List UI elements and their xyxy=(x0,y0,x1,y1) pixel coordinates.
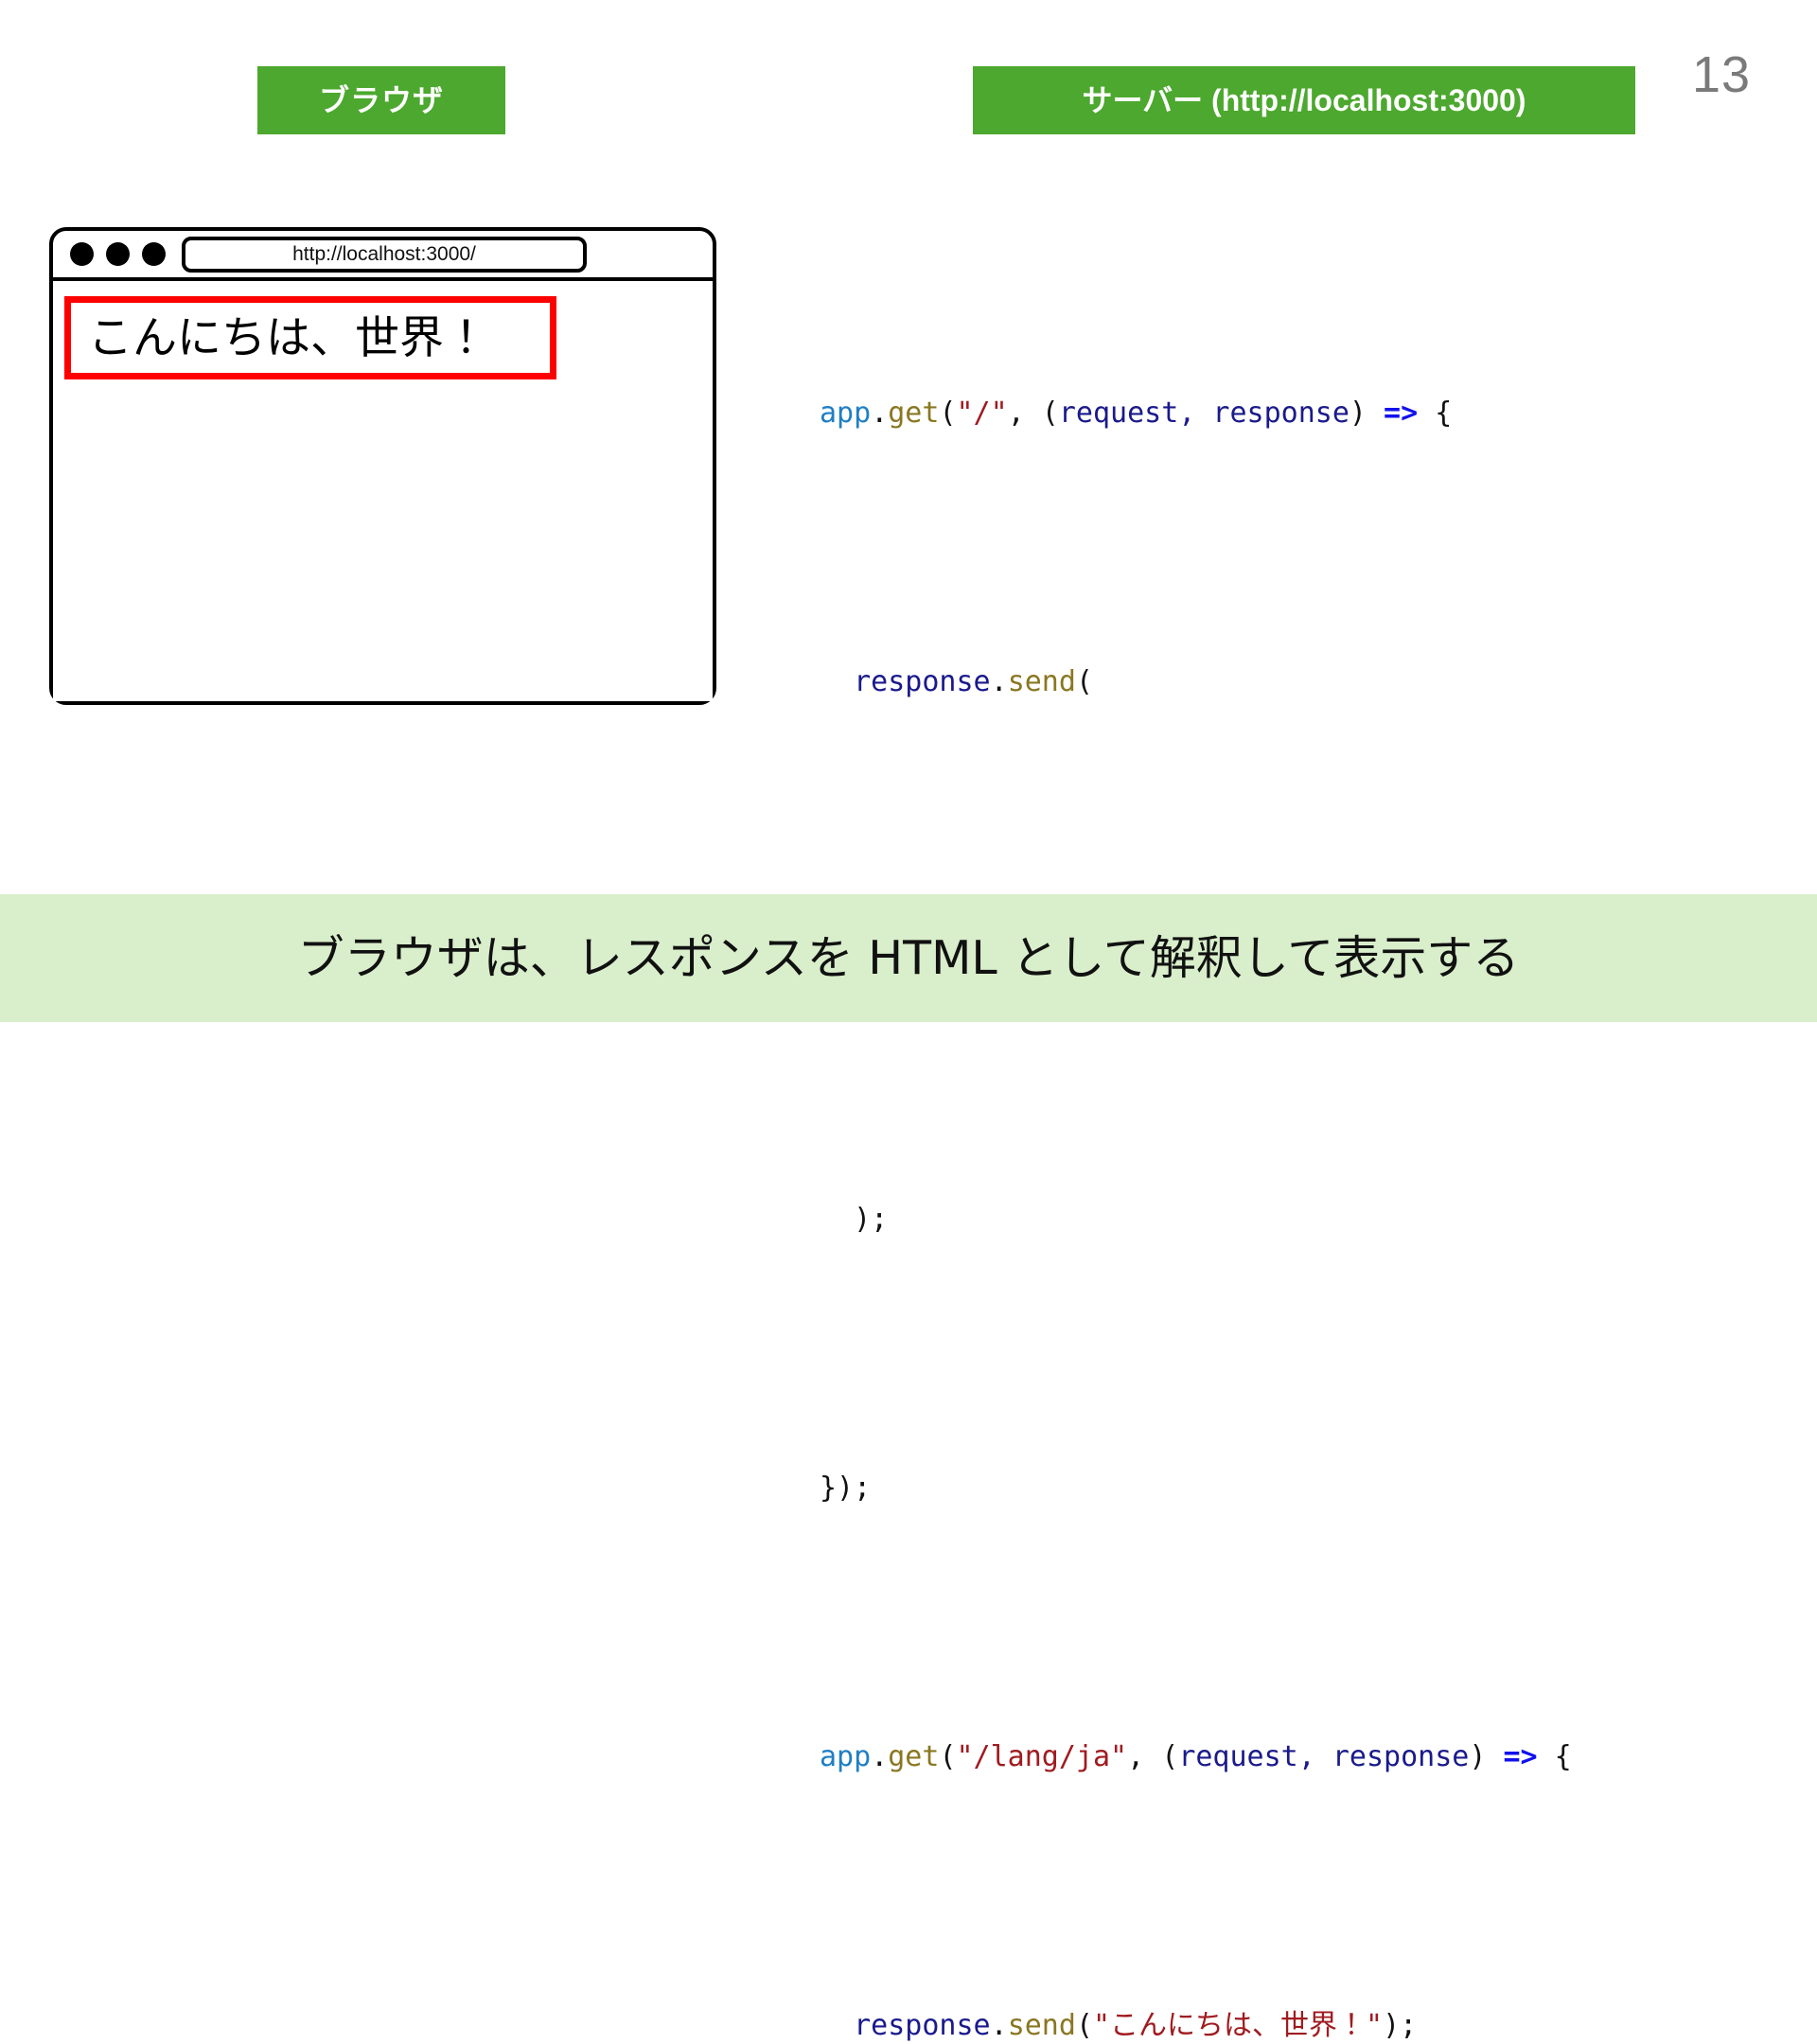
code-line-1: app.get("/", (request, response) => { xyxy=(820,379,1766,447)
code-token-route: "/" xyxy=(957,396,1008,430)
page-number: 13 xyxy=(1669,49,1773,100)
code-token-method: send xyxy=(1008,2009,1076,2042)
badge-server-label: サーバー (http://localhost:3000) xyxy=(1082,85,1526,115)
browser-viewport: こんにちは、世界！ xyxy=(53,281,713,701)
minimize-dot-icon xyxy=(106,242,130,266)
code-token-dot: . xyxy=(991,665,1008,698)
code-token-brace: { xyxy=(1538,1740,1572,1773)
code-token-indent xyxy=(820,2009,854,2042)
code-token-arrow: => xyxy=(1384,396,1418,430)
code-token-object: response xyxy=(854,2009,991,2042)
code-token-comma: , ( xyxy=(1008,396,1059,430)
badge-browser-label: ブラウザ xyxy=(319,85,444,115)
maximize-dot-icon xyxy=(142,242,166,266)
code-line-4: ); xyxy=(820,1186,1766,1253)
url-bar[interactable]: http://localhost:3000/ xyxy=(182,237,587,273)
code-token-brace: { xyxy=(1418,396,1452,430)
code-line-7: response.send("こんにちは、世界！"); xyxy=(820,1992,1766,2044)
code-line-2: response.send( xyxy=(820,648,1766,715)
code-line-5: }); xyxy=(820,1454,1766,1522)
code-token-method: get xyxy=(888,1740,939,1773)
code-token-paren-open: ( xyxy=(1076,2009,1093,2042)
code-token-tail: ); xyxy=(1383,2009,1417,2042)
code-token-arrow: => xyxy=(1503,1740,1537,1773)
code-line-6: app.get("/lang/ja", (request, response) … xyxy=(820,1723,1766,1790)
code-token-params: request, response xyxy=(1178,1740,1469,1773)
close-dot-icon xyxy=(70,242,94,266)
caption-band: ブラウザは、レスポンスを HTML として解釈して表示する xyxy=(0,894,1817,1022)
browser-window-mock: http://localhost:3000/ こんにちは、世界！ xyxy=(49,227,716,705)
code-token-object: response xyxy=(854,665,991,698)
code-token-object: app xyxy=(820,1740,871,1773)
code-token-paren-open: ( xyxy=(939,1740,956,1773)
traffic-light-dots xyxy=(70,242,166,266)
code-token-paren-close: ) xyxy=(1469,1740,1503,1773)
url-text: http://localhost:3000/ xyxy=(292,244,476,264)
code-token-params: request, response xyxy=(1059,396,1350,430)
code-token-close-route: }); xyxy=(820,1471,871,1505)
code-token-dot: . xyxy=(871,1740,888,1773)
code-token-method: send xyxy=(1008,665,1076,698)
code-token-method: get xyxy=(888,396,939,430)
code-token-paren-open: ( xyxy=(1076,665,1093,698)
badge-browser: ブラウザ xyxy=(257,66,505,134)
code-token-paren-close: ) xyxy=(1350,396,1384,430)
rendered-content-highlight: こんにちは、世界！ xyxy=(64,296,556,379)
code-token-indent xyxy=(820,665,854,698)
browser-titlebar: http://localhost:3000/ xyxy=(53,231,713,281)
badge-server: サーバー (http://localhost:3000) xyxy=(973,66,1635,134)
code-token-japanese-string: "こんにちは、世界！" xyxy=(1093,2009,1383,2042)
code-token-close-call: ); xyxy=(820,1203,888,1236)
code-token-paren-open: ( xyxy=(939,396,956,430)
code-token-dot: . xyxy=(871,396,888,430)
code-token-route: "/lang/ja" xyxy=(957,1740,1128,1773)
caption-text: ブラウザは、レスポンスを HTML として解釈して表示する xyxy=(298,935,1520,981)
server-code-block: app.get("/", (request, response) => { re… xyxy=(820,178,1766,2044)
rendered-content-text: こんにちは、世界！ xyxy=(88,316,488,361)
code-token-object: app xyxy=(820,396,871,430)
code-token-comma: , ( xyxy=(1127,1740,1178,1773)
code-token-dot: . xyxy=(991,2009,1008,2042)
